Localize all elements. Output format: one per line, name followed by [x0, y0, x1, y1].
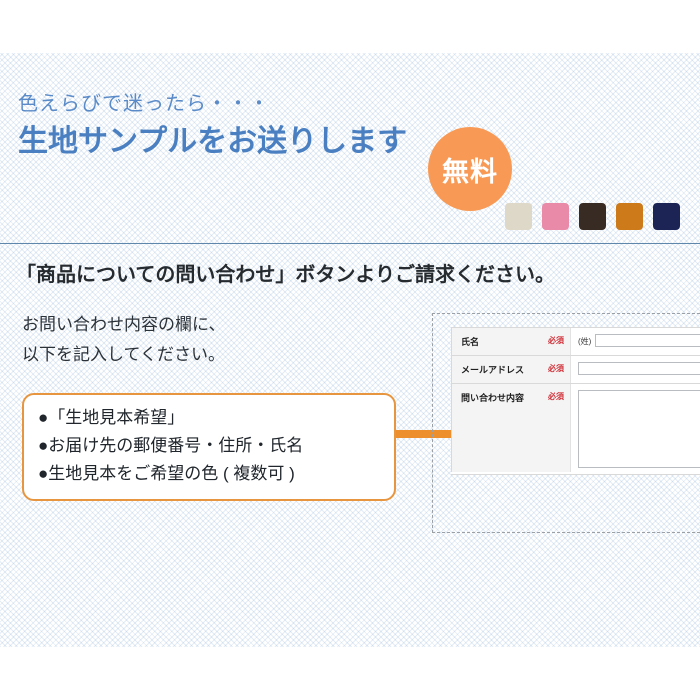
inquiry-textarea[interactable]: [578, 390, 700, 468]
contact-form-preview-panel: 氏名 必須 (姓) メールアドレス 必須 問い合わせ内容 必須: [432, 313, 700, 533]
form-sublabel-surname: (姓): [578, 334, 591, 347]
required-badge-name: 必須: [548, 335, 566, 346]
instruction-text-block: お問い合わせ内容の欄に、 以下を記入してください。: [22, 310, 226, 370]
form-input-cell-name: (姓): [571, 328, 700, 355]
swatch-pink: [542, 203, 569, 230]
request-instruction-subtitle: 「商品についての問い合わせ」ボタンよりご請求ください。: [16, 258, 555, 287]
hero-heading-block: 色えらびで迷ったら・・・ 生地サンプルをお送りします: [18, 93, 448, 160]
swatch-camel: [616, 203, 643, 230]
form-label-name: 氏名: [461, 335, 479, 348]
required-badge-email: 必須: [548, 363, 566, 374]
form-row-email: メールアドレス 必須: [451, 356, 700, 384]
required-badge-inquiry: 必須: [548, 391, 566, 402]
hero-kicker: 色えらびで迷ったら・・・: [18, 93, 448, 115]
form-label-inquiry: 問い合わせ内容: [461, 391, 524, 404]
form-row-inquiry: 問い合わせ内容 必須: [451, 384, 700, 475]
name-input[interactable]: [595, 334, 700, 347]
instruction-line-2: 以下を記入してください。: [22, 340, 226, 370]
form-row-name: 氏名 必須 (姓): [451, 328, 700, 356]
free-badge-label: 無料: [442, 150, 498, 189]
free-badge: 無料: [428, 127, 512, 211]
contact-form-table: 氏名 必須 (姓) メールアドレス 必須 問い合わせ内容 必須: [451, 327, 700, 475]
fabric-color-swatch-list: [505, 203, 680, 230]
callout-line-3: ●生地見本をご希望の色 ( 複数可 ): [38, 460, 394, 488]
callout-box: ●「生地見本希望」 ●お届け先の郵便番号・住所・氏名 ●生地見本をご希望の色 (…: [22, 393, 396, 501]
section-divider: [0, 243, 700, 244]
form-label-cell-email: メールアドレス 必須: [451, 356, 571, 383]
callout-line-2: ●お届け先の郵便番号・住所・氏名: [38, 432, 394, 460]
form-input-cell-email: [571, 356, 700, 383]
form-label-email: メールアドレス: [461, 363, 524, 376]
callout-line-1: ●「生地見本希望」: [38, 404, 394, 432]
form-label-cell-inquiry: 問い合わせ内容 必須: [451, 384, 571, 472]
swatch-dark-brown: [579, 203, 606, 230]
email-input[interactable]: [578, 362, 700, 375]
form-input-cell-inquiry: [571, 384, 700, 474]
hero-headline: 生地サンプルをお送りします: [18, 125, 448, 160]
swatch-ivory: [505, 203, 532, 230]
form-label-cell-name: 氏名 必須: [451, 328, 571, 355]
instruction-line-1: お問い合わせ内容の欄に、: [22, 310, 226, 340]
swatch-navy: [653, 203, 680, 230]
